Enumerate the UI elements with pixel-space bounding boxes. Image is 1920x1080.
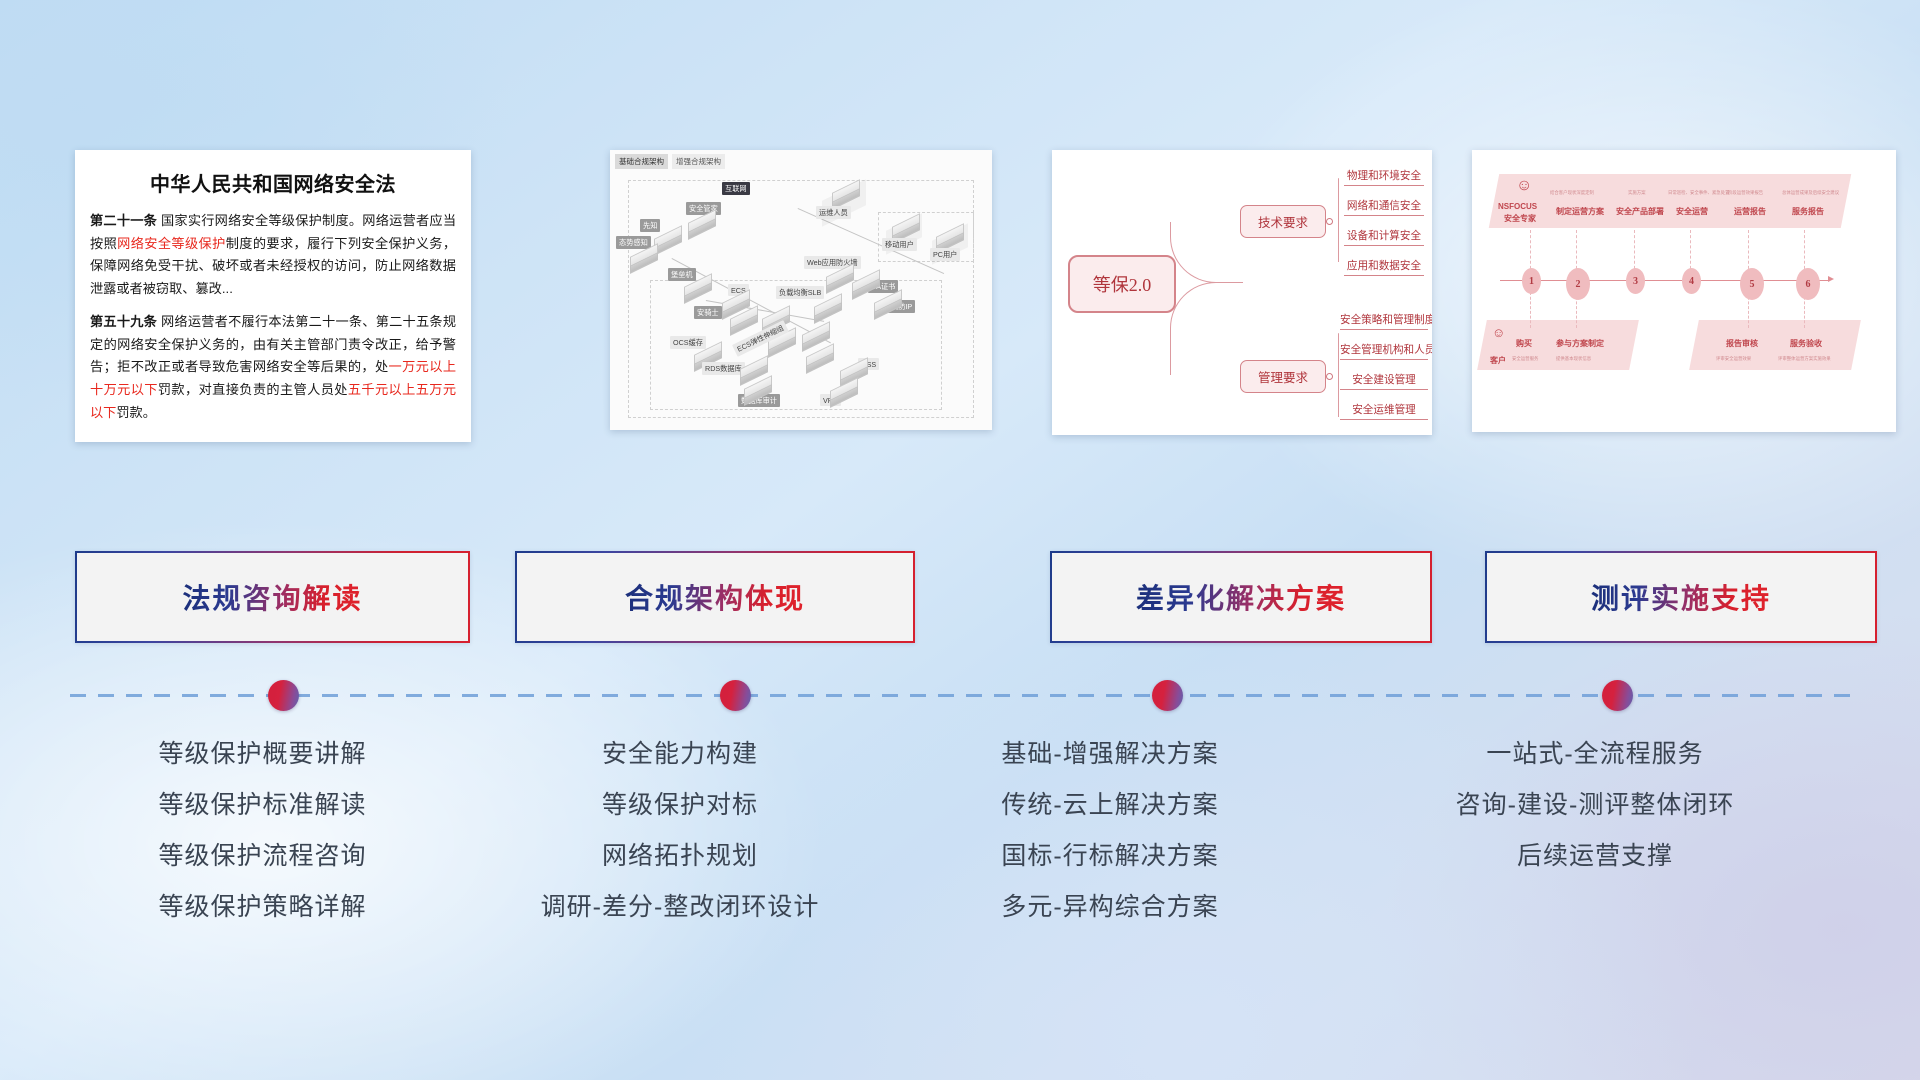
step-marker-4: 4 <box>1682 268 1701 294</box>
category-button-regulation-consulting[interactable]: 法规咨询解读 <box>75 551 470 643</box>
mindmap-leaf-tech-2: 网络和通信安全 <box>1344 198 1424 216</box>
infographic-stage: 中华人民共和国网络安全法 第二十一条 国家实行网络安全等级保护制度。网络运营者应… <box>0 0 1920 1080</box>
node-slb: 负载均衡SLB <box>776 286 824 299</box>
list-item: 等级保护概要讲解 <box>75 742 450 767</box>
list-item: 一站式-全流程服务 <box>1365 742 1825 767</box>
tab-basic-architecture[interactable]: 基础合规架构 <box>615 154 668 169</box>
timeline-axis <box>1500 280 1830 281</box>
expert-note-1: 结合客户现状深度定制 <box>1550 190 1594 196</box>
timeline-dot-3[interactable] <box>1152 680 1183 711</box>
step-marker-6: 6 <box>1796 268 1820 300</box>
list-item: 基础-增强解决方案 <box>925 742 1295 767</box>
expert-role-line2: 安全专家 <box>1504 213 1536 224</box>
law-article-21: 第二十一条 国家实行网络安全等级保护制度。网络运营者应当按照网络安全等级保护制度… <box>90 210 456 301</box>
card-compliance-architecture[interactable]: 基础合规架构 增强合规架构 互联网 安全管家 先知 态势感知 运维人员 <box>610 150 992 430</box>
article-59-text-2: 罚款，对直接负责的主管人员处 <box>158 382 348 397</box>
customer-step-4: 服务验收 <box>1790 338 1822 349</box>
node-bastion-host: 堡垒机 <box>668 268 696 281</box>
list-item: 安全能力构建 <box>485 742 875 767</box>
category-button-assessment-support[interactable]: 测评实施支持 <box>1485 551 1877 643</box>
list-item: 传统-云上解决方案 <box>925 793 1295 818</box>
list-item: 调研-差分-整改闭环设计 <box>485 895 875 920</box>
category-button-compliance-architecture[interactable]: 合规架构体现 <box>515 551 915 643</box>
mindmap-root-node: 等保2.0 <box>1068 255 1176 313</box>
mindmap-leaf-mgmt-4: 安全运维管理 <box>1340 402 1428 420</box>
detail-column-2: 安全能力构建 等级保护对标 网络拓扑规划 调研-差分-整改闭环设计 <box>485 742 875 946</box>
node-xianzhi: 先知 <box>640 219 660 232</box>
mindmap-curve-tech <box>1170 222 1243 283</box>
category-button-differentiated-solution[interactable]: 差异化解决方案 <box>1050 551 1432 643</box>
customer-avatar-icon: ☺ <box>1492 326 1505 339</box>
category-button-label-4: 测评实施支持 <box>1591 577 1771 617</box>
list-item: 等级保护流程咨询 <box>75 844 450 869</box>
category-button-label-2: 合规架构体现 <box>625 577 805 617</box>
node-rds: RDS数据库 <box>702 362 745 375</box>
expert-step-2: 安全产品部署 <box>1616 206 1664 217</box>
category-button-label-3: 差异化解决方案 <box>1136 577 1346 617</box>
timeline-dot-4[interactable] <box>1602 680 1633 711</box>
mindmap-branch-tech: 技术要求 <box>1240 205 1326 238</box>
list-item: 咨询-建设-测评整体闭环 <box>1365 793 1825 818</box>
detail-column-1: 等级保护概要讲解 等级保护标准解读 等级保护流程咨询 等级保护策略详解 <box>75 742 450 946</box>
expert-avatar-icon: ☺ <box>1516 178 1532 194</box>
card-service-timeline[interactable]: ☺ NSFOCUS 安全专家 结合客户现状深度定制 制定运营方案 实施方案 安全… <box>1472 150 1896 432</box>
node-ocs-cache: OCS缓存 <box>670 336 706 349</box>
law-article-59: 第五十九条 网络运营者不履行本法第二十一条、第二十五条规定的网络安全保护义务的，… <box>90 311 456 425</box>
list-item: 多元-异构综合方案 <box>925 895 1295 920</box>
mindmap-leaf-tech-4: 应用和数据安全 <box>1344 258 1424 276</box>
law-text-block: 中华人民共和国网络安全法 第二十一条 国家实行网络安全等级保护制度。网络运营者应… <box>75 150 471 442</box>
expert-band <box>1489 174 1851 228</box>
node-internet: 互联网 <box>722 182 750 195</box>
node-anqishi: 安骑士 <box>694 306 722 319</box>
mindmap-diagram: 等保2.0 技术要求 管理要求 物理和环境安全 网络和通信安全 设备和计算安全 … <box>1052 150 1432 435</box>
mindmap-fan-tech <box>1338 178 1339 262</box>
customer-band-right <box>1689 320 1861 370</box>
list-item: 网络拓扑规划 <box>485 844 875 869</box>
customer-role-label: 客户 <box>1490 355 1506 366</box>
step-marker-5: 5 <box>1740 268 1764 300</box>
step-marker-3: 3 <box>1626 268 1645 294</box>
detail-column-3: 基础-增强解决方案 传统-云上解决方案 国标-行标解决方案 多元-异构综合方案 <box>925 742 1295 946</box>
timeline-dashed-line <box>70 694 1850 697</box>
mindmap-leaf-mgmt-2: 安全管理机构和人员 <box>1340 342 1428 360</box>
architecture-tabs: 基础合规架构 增强合规架构 <box>615 154 725 169</box>
expert-step-3: 安全运营 <box>1676 206 1708 217</box>
article-21-label: 第二十一条 <box>90 213 157 228</box>
service-timeline-diagram: ☺ NSFOCUS 安全专家 结合客户现状深度定制 制定运营方案 实施方案 安全… <box>1472 150 1896 432</box>
mindmap-collapse-dot-tech[interactable] <box>1326 218 1333 225</box>
mindmap-fan-mgmt <box>1338 333 1339 417</box>
card-row: 中华人民共和国网络安全法 第二十一条 国家实行网络安全等级保护制度。网络运营者应… <box>75 150 1845 450</box>
customer-step-1: 购买 <box>1516 338 1532 349</box>
customer-step-3: 报告审核 <box>1726 338 1758 349</box>
mindmap-curve-mgmt <box>1170 282 1243 375</box>
customer-note-1: 安全运营服务 <box>1512 356 1538 362</box>
list-item: 后续运营支撑 <box>1365 844 1825 869</box>
architecture-diagram: 基础合规架构 增强合规架构 互联网 安全管家 先知 态势感知 运维人员 <box>610 150 992 430</box>
node-situation-awareness: 态势感知 <box>616 236 651 249</box>
category-button-label-1: 法规咨询解读 <box>182 577 362 617</box>
customer-step-2: 参与方案制定 <box>1556 338 1604 349</box>
mindmap-leaf-tech-1: 物理和环境安全 <box>1344 168 1424 186</box>
expert-step-5: 服务报告 <box>1792 206 1824 217</box>
mindmap-leaf-mgmt-3: 安全建设管理 <box>1340 372 1428 390</box>
node-ops-user: 运维人员 <box>816 206 851 219</box>
timeline-rail <box>70 694 1850 697</box>
mindmap-branch-mgmt: 管理要求 <box>1240 360 1326 393</box>
list-item: 国标-行标解决方案 <box>925 844 1295 869</box>
tab-enhanced-architecture[interactable]: 增强合规架构 <box>672 154 725 169</box>
card-mindmap-dengbao[interactable]: 等保2.0 技术要求 管理要求 物理和环境安全 网络和通信安全 设备和计算安全 … <box>1052 150 1432 435</box>
node-mobile-user: 移动用户 <box>882 238 917 251</box>
expert-note-5: 总体运营成果及后续安全建议 <box>1782 190 1839 196</box>
node-pc-user: PC用户 <box>930 248 960 261</box>
expert-note-3: 日常巡检、安全事件、紧急处置 <box>1668 190 1729 196</box>
law-title: 中华人民共和国网络安全法 <box>90 168 456 197</box>
step-marker-2: 2 <box>1566 268 1590 300</box>
timeline-dot-1[interactable] <box>268 680 299 711</box>
step-marker-1: 1 <box>1522 268 1541 294</box>
list-item: 等级保护策略详解 <box>75 895 450 920</box>
category-button-row: 法规咨询解读 合规架构体现 差异化解决方案 测评实施支持 <box>75 551 1845 643</box>
card-cybersecurity-law[interactable]: 中华人民共和国网络安全法 第二十一条 国家实行网络安全等级保护制度。网络运营者应… <box>75 150 471 442</box>
expert-note-2: 实施方案 <box>1628 190 1646 196</box>
expert-step-4: 运营报告 <box>1734 206 1766 217</box>
detail-column-4: 一站式-全流程服务 咨询-建设-测评整体闭环 后续运营支撑 <box>1365 742 1825 895</box>
connector-dash-7 <box>1530 292 1531 328</box>
article-59-label: 第五十九条 <box>90 314 157 329</box>
mindmap-leaf-mgmt-1: 安全策略和管理制度 <box>1340 312 1428 330</box>
list-item: 等级保护标准解读 <box>75 793 450 818</box>
mindmap-collapse-dot-mgmt[interactable] <box>1326 373 1333 380</box>
list-item: 等级保护对标 <box>485 793 875 818</box>
article-59-text-3: 罚款。 <box>116 405 156 420</box>
customer-note-4: 评审整体运营方案实施效果 <box>1778 356 1831 362</box>
expert-role-line1: NSFOCUS <box>1498 202 1537 211</box>
article-21-highlight: 网络安全等级保护 <box>117 236 226 251</box>
customer-note-2: 提供基本现状信息 <box>1556 356 1591 362</box>
timeline-arrow-icon <box>1828 276 1834 282</box>
mindmap-leaf-tech-3: 设备和计算安全 <box>1344 228 1424 246</box>
customer-note-3: 评审安全运营效果 <box>1716 356 1751 362</box>
timeline-dot-2[interactable] <box>720 680 751 711</box>
expert-note-4: 阶段运营效果报告 <box>1728 190 1763 196</box>
expert-step-1: 制定运营方案 <box>1556 206 1604 217</box>
